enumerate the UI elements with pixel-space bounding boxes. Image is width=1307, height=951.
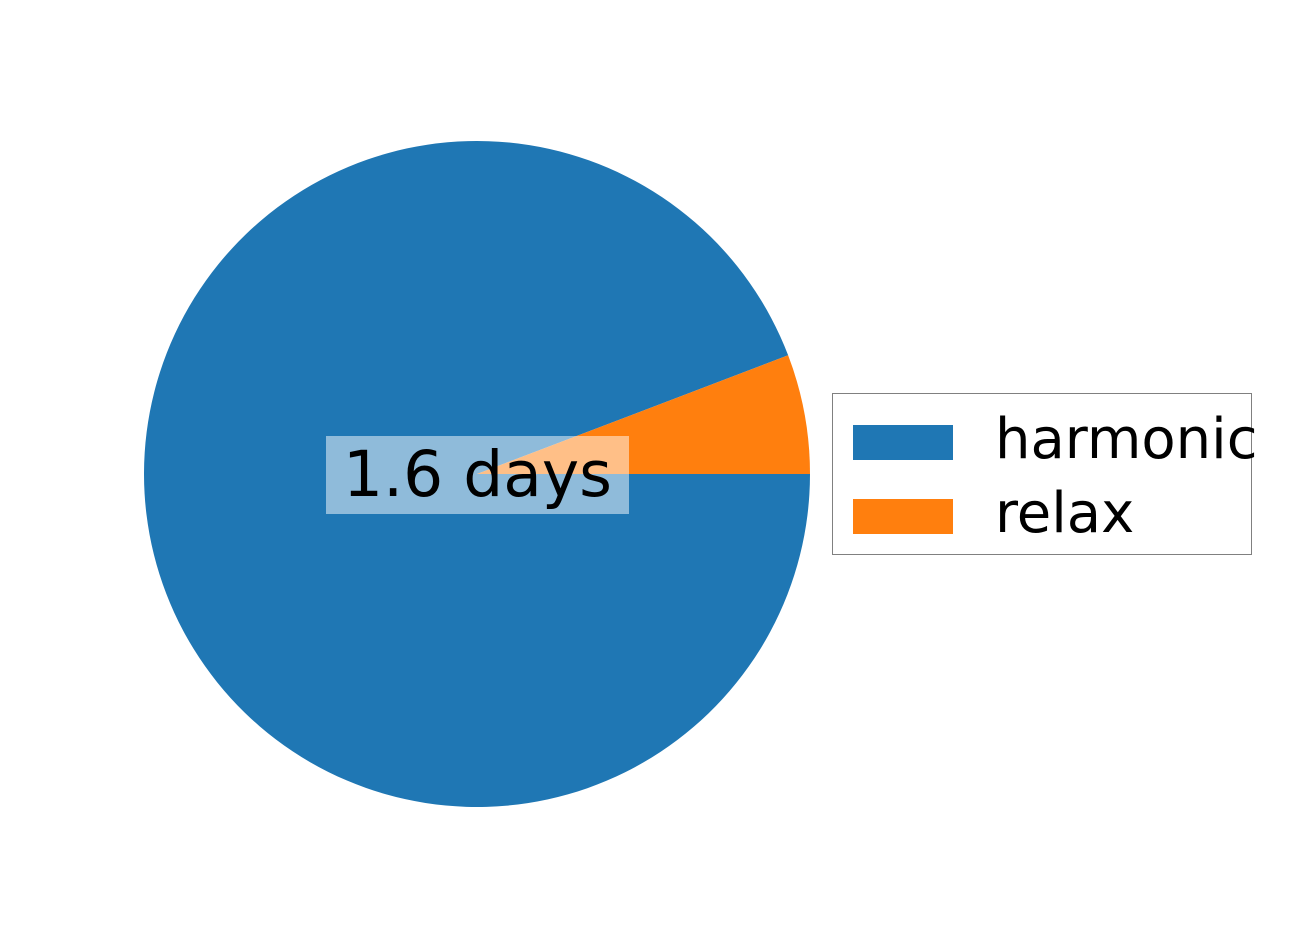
legend-rows: harmonic relax bbox=[853, 410, 1251, 554]
pie-center-label: 1.6 days bbox=[326, 436, 629, 514]
legend-label-harmonic: harmonic bbox=[995, 412, 1258, 468]
legend-swatch-harmonic bbox=[853, 425, 953, 460]
pie-center-label-text: 1.6 days bbox=[343, 443, 612, 506]
legend-swatch-relax bbox=[853, 499, 953, 534]
legend-item-relax[interactable]: relax bbox=[853, 484, 1251, 548]
legend-label-relax: relax bbox=[995, 486, 1134, 542]
legend: harmonic relax bbox=[832, 393, 1252, 555]
legend-item-harmonic[interactable]: harmonic bbox=[853, 410, 1251, 474]
pie-chart-figure: 1.6 days harmonic relax bbox=[0, 0, 1307, 951]
